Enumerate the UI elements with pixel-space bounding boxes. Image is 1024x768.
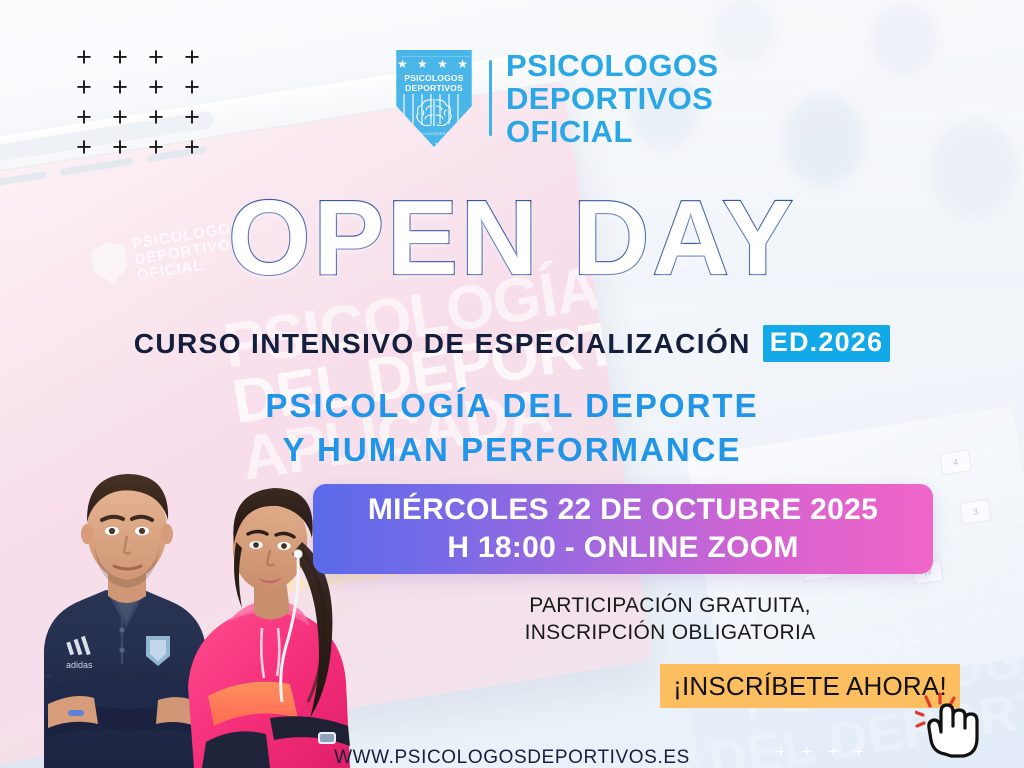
plus-icon: + — [66, 42, 102, 72]
program-heading-line-2: Y HUMAN PERFORMANCE — [0, 428, 1024, 472]
brand-wordmark-line-3: OFICIAL — [506, 115, 718, 148]
plus-icon: + — [138, 102, 174, 132]
shield-name: PSICOLOGOS DEPORTIVOS — [393, 74, 475, 93]
event-date-banner: MIÉRCOLES 22 DE OCTUBRE 2025 H 18:00 - O… — [313, 484, 933, 574]
stars-row: ★ ★ ★ ★ — [393, 57, 475, 71]
promotional-poster: PSICOLOGOS DEPORTIVOS OFICIAL PSICOLOGÍA… — [0, 0, 1024, 768]
participation-note-line-1: PARTICIPACIÓN GRATUITA, — [460, 592, 880, 619]
plus-icon: + — [102, 72, 138, 102]
plus-icon: + — [174, 72, 210, 102]
brand-divider — [489, 60, 492, 136]
plus-icon: + — [66, 132, 102, 162]
program-heading-line-1: PSICOLOGÍA DEL DEPORTE — [0, 384, 1024, 428]
brain-icon — [414, 96, 454, 128]
shield-name-line-2: DEPORTIVOS — [393, 84, 475, 94]
plus-icon: + — [138, 42, 174, 72]
plus-icon: + — [174, 42, 210, 72]
plus-icon: + — [138, 132, 174, 162]
website-url[interactable]: WWW.PSICOLOGOSDEPORTIVOS.ES — [0, 747, 1024, 768]
plus-icon: + — [174, 132, 210, 162]
brand-wordmark-line-2: DEPORTIVOS — [506, 82, 718, 115]
key-glyph: 3 — [959, 499, 992, 525]
plus-icon: + — [102, 132, 138, 162]
participation-note-line-2: INSCRIPCIÓN OBLIGATORIA — [460, 619, 880, 646]
plus-icon: + — [102, 42, 138, 72]
page-title: OPEN DAY — [0, 185, 1024, 291]
shield-micro-text: WWW.PSICOLOGOSDEPORTIVOS.ES — [393, 132, 475, 136]
brand-header: ★ ★ ★ ★ PSICOLOGOS DEPORTIVOS — [393, 48, 718, 148]
plus-icon: + — [138, 72, 174, 102]
decor-plus-grid-top: + + + + + + + + + + + + + + + + — [66, 42, 210, 162]
svg-text:adidas: adidas — [66, 660, 93, 670]
plus-icon: + — [66, 72, 102, 102]
shield-icon: ★ ★ ★ ★ PSICOLOGOS DEPORTIVOS — [393, 48, 475, 148]
brand-wordmark-line-1: PSICOLOGOS — [506, 49, 718, 82]
participation-note: PARTICIPACIÓN GRATUITA, INSCRIPCIÓN OBLI… — [460, 592, 880, 647]
plus-icon: + — [174, 102, 210, 132]
brand-wordmark: PSICOLOGOS DEPORTIVOS OFICIAL — [506, 49, 718, 148]
event-date: MIÉRCOLES 22 DE OCTUBRE 2025 — [368, 491, 878, 529]
course-subtitle: CURSO INTENSIVO DE ESPECIALIZACIÓN — [134, 328, 751, 360]
brand-shield-logo: ★ ★ ★ ★ PSICOLOGOS DEPORTIVOS — [393, 48, 475, 148]
plus-icon: + — [66, 102, 102, 132]
event-time-platform: H 18:00 - ONLINE ZOOM — [447, 529, 798, 567]
program-heading: PSICOLOGÍA DEL DEPORTE Y HUMAN PERFORMAN… — [0, 384, 1024, 472]
edition-badge: ED.2026 — [763, 325, 890, 362]
course-subtitle-row: CURSO INTENSIVO DE ESPECIALIZACIÓN ED.20… — [0, 325, 1024, 362]
plus-icon: + — [102, 102, 138, 132]
